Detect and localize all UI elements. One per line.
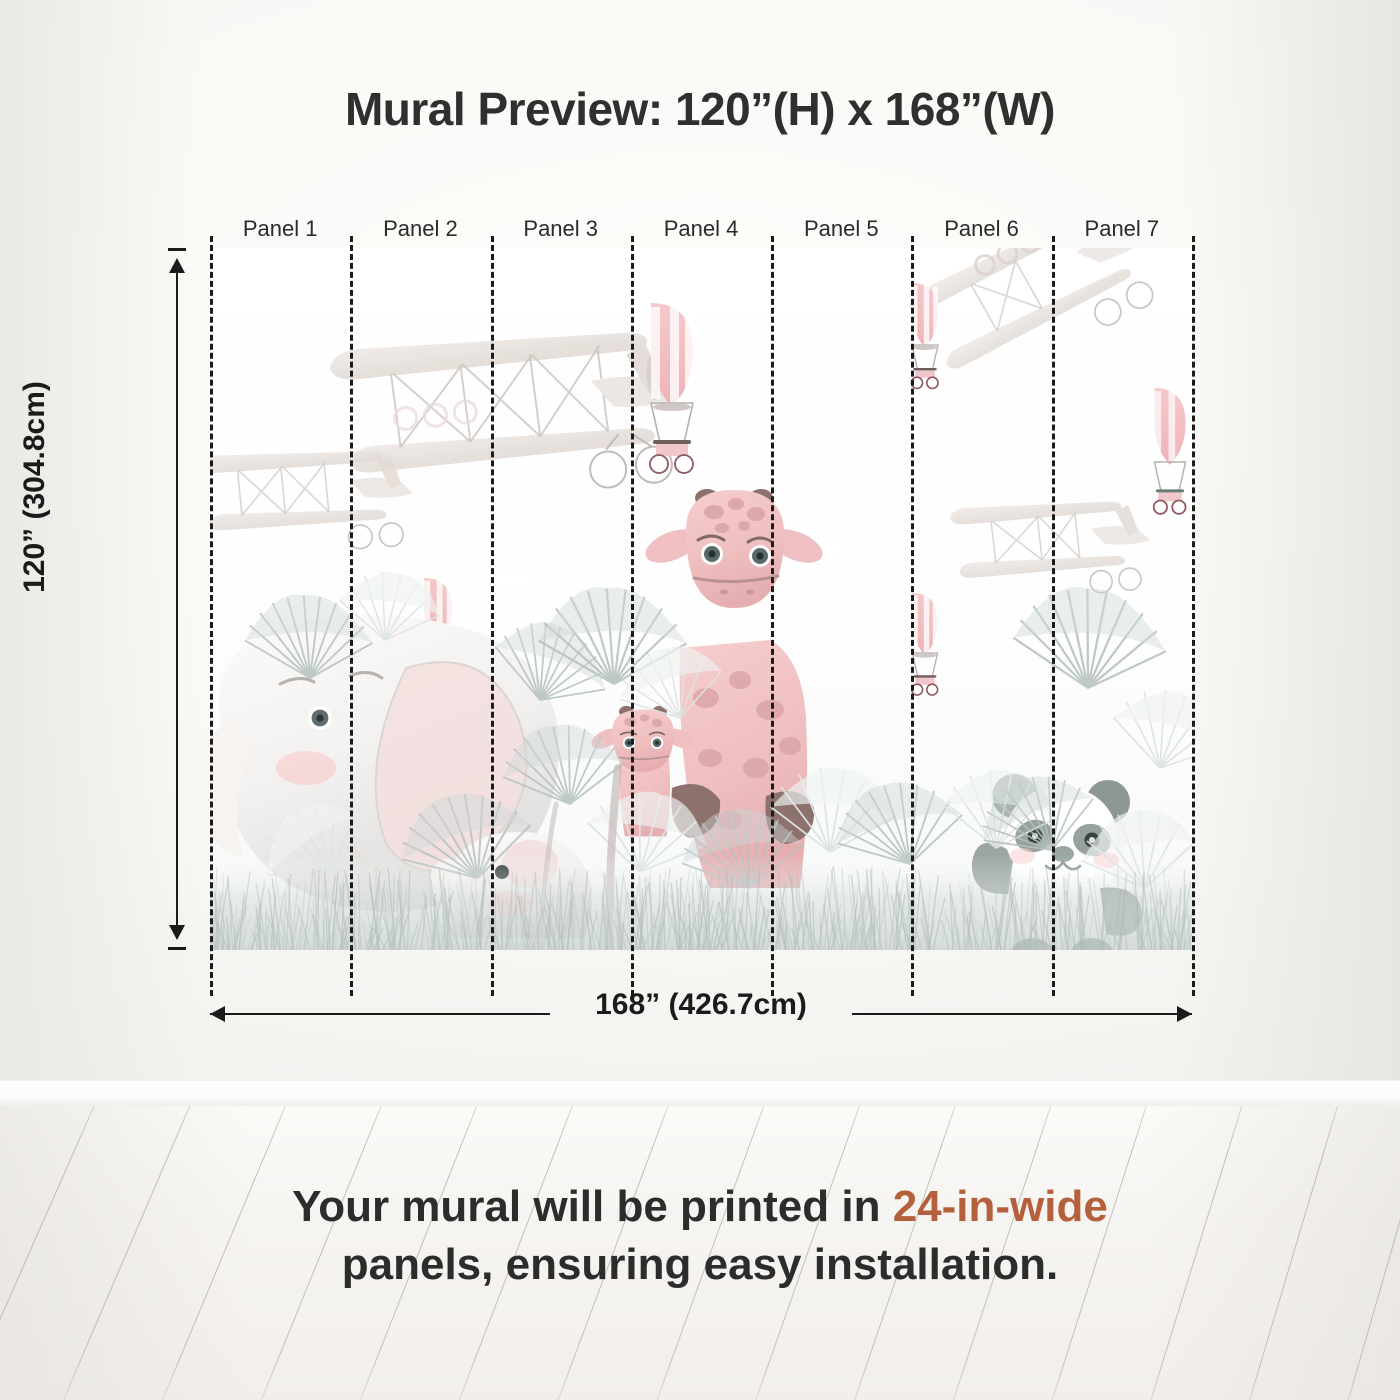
mural-artwork <box>210 248 1192 950</box>
panel-label-2: Panel 2 <box>345 216 495 242</box>
balloon-right-mid <box>912 593 938 695</box>
panel-label-5: Panel 5 <box>766 216 916 242</box>
panel-label-3: Panel 3 <box>486 216 636 242</box>
caption-line1-before: Your mural will be printed in <box>292 1182 893 1231</box>
panel-label-6: Panel 6 <box>907 216 1057 242</box>
width-dimension-label: 168” (426.7cm) <box>210 988 1192 1022</box>
mural-preview-screen: Mural Preview: 120”(H) x 168”(W) <box>0 0 1400 1400</box>
panel-divider-line <box>771 236 774 996</box>
height-arrow-shaft <box>176 262 178 936</box>
panel-label-1: Panel 1 <box>205 216 355 242</box>
panel-divider-line <box>1052 236 1055 996</box>
height-tick-top <box>168 248 186 251</box>
height-dimension-label: 120” (304.8cm) <box>18 297 52 677</box>
height-arrowhead-up <box>169 258 185 273</box>
balloon-right-top <box>911 283 938 388</box>
panel-divider-line <box>631 236 634 996</box>
panel-label-4: Panel 4 <box>626 216 776 242</box>
page-title: Mural Preview: 120”(H) x 168”(W) <box>0 82 1400 136</box>
height-arrowhead-down <box>169 925 185 940</box>
balloon-center-top <box>650 303 693 473</box>
height-tick-bottom <box>168 947 186 950</box>
wall-shadow-right <box>1170 0 1400 1092</box>
panel-divider-line <box>1192 236 1195 996</box>
panel-label-7: Panel 7 <box>1047 216 1197 242</box>
caption-accent: 24-in-wide <box>893 1182 1108 1231</box>
panel-divider-line <box>350 236 353 996</box>
panel-divider-line <box>210 236 213 996</box>
caption-text: Your mural will be printed in 24-in-wide… <box>90 1178 1310 1294</box>
baseboard <box>0 1080 1400 1109</box>
panel-divider-line <box>491 236 494 996</box>
panel-divider-line <box>911 236 914 996</box>
caption-line2: panels, ensuring easy installation. <box>342 1240 1058 1289</box>
height-dimension-arrow <box>168 248 186 950</box>
